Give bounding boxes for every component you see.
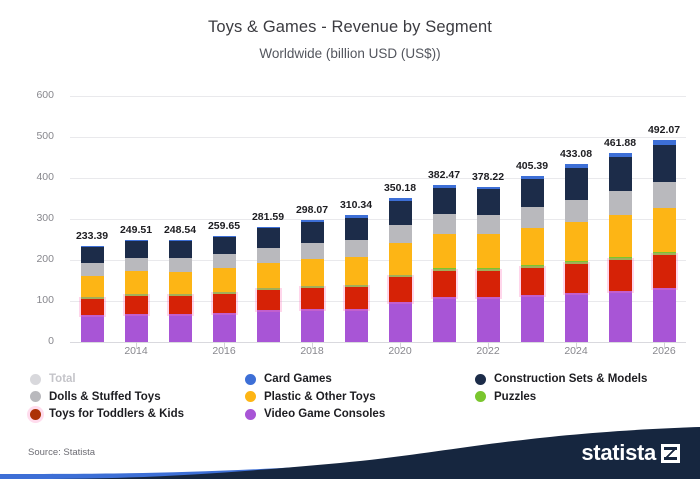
statista-wordmark: statista — [581, 442, 656, 464]
bar-segment[interactable] — [565, 293, 588, 342]
bar-segment[interactable] — [521, 179, 544, 207]
bar-segment[interactable] — [257, 310, 280, 342]
legend-color-swatch-icon — [245, 391, 256, 402]
bar-segment[interactable] — [521, 268, 544, 295]
bar-segment[interactable] — [169, 272, 192, 295]
bar-segment[interactable] — [125, 271, 148, 294]
bar-stack[interactable] — [433, 185, 456, 342]
chart-title: Toys & Games - Revenue by Segment — [0, 18, 700, 37]
bar-segment[interactable] — [301, 243, 324, 259]
bar-segment[interactable] — [653, 182, 676, 208]
chart-subtitle: Worldwide (billion USD (US$)) — [0, 46, 700, 61]
bar-segment[interactable] — [565, 168, 588, 199]
bar-segment[interactable] — [213, 294, 236, 313]
chart-legend[interactable]: TotalDolls & Stuffed ToysToys for Toddle… — [30, 372, 680, 424]
bar-value-label: 382.47 — [428, 169, 460, 181]
plot-area: 233.39249.51248.54259.65281.59298.07310.… — [70, 96, 686, 342]
bar-segment[interactable] — [477, 234, 500, 268]
legend-item[interactable]: Plastic & Other Toys — [245, 390, 475, 404]
bar-segment[interactable] — [169, 241, 192, 258]
bar-segment[interactable] — [389, 225, 412, 243]
bar-segment[interactable] — [125, 241, 148, 258]
bar-segment[interactable] — [213, 237, 236, 255]
bar-segment[interactable] — [257, 263, 280, 289]
x-tick-mark — [488, 342, 489, 349]
bar-segment[interactable] — [521, 228, 544, 264]
y-tick-600: 600 — [0, 89, 54, 101]
legend-color-swatch-icon — [245, 409, 256, 420]
bar-segment[interactable] — [125, 314, 148, 342]
bar-segment[interactable] — [433, 297, 456, 342]
bar-segment[interactable] — [433, 188, 456, 214]
bar-value-label: 281.59 — [252, 211, 284, 223]
bar-stack[interactable] — [565, 164, 588, 342]
bar-segment[interactable] — [433, 234, 456, 268]
bar-segment[interactable] — [81, 299, 104, 315]
bar-segment[interactable] — [345, 287, 368, 309]
bar-value-label: 405.39 — [516, 160, 548, 172]
legend-label: Puzzles — [494, 391, 536, 403]
legend-item[interactable]: Video Game Consoles — [245, 407, 475, 421]
bar-stack[interactable] — [213, 236, 236, 342]
legend-item[interactable]: Card Games — [245, 372, 475, 386]
bar-segment[interactable] — [477, 271, 500, 297]
bar-segment[interactable] — [653, 208, 676, 252]
x-tick-mark — [224, 342, 225, 349]
legend-label: Video Game Consoles — [264, 408, 385, 420]
legend-column: Construction Sets & ModelsPuzzles — [475, 372, 680, 424]
legend-item[interactable]: Dolls & Stuffed Toys — [30, 390, 245, 404]
source-label: Source: Statista — [28, 447, 95, 458]
bar-segment[interactable] — [609, 260, 632, 291]
legend-color-swatch-icon — [475, 374, 486, 385]
bar-value-label: 350.18 — [384, 182, 416, 194]
bar-segment[interactable] — [169, 258, 192, 271]
y-tick-200: 200 — [0, 253, 54, 265]
bar-stack[interactable] — [389, 198, 412, 342]
bar-value-label: 492.07 — [648, 124, 680, 136]
legend-color-swatch-icon — [30, 391, 41, 402]
bar-segment[interactable] — [609, 157, 632, 191]
y-axis-tick-labels: 0100200300400500600 — [0, 96, 60, 342]
legend-color-swatch-icon — [475, 391, 486, 402]
bar-segment[interactable] — [653, 288, 676, 342]
bar-segment[interactable] — [345, 218, 368, 241]
gridline-0 — [70, 342, 686, 343]
footer: Source: Statista statista — [0, 427, 700, 479]
bar-segment[interactable] — [521, 207, 544, 228]
bar-value-label: 310.34 — [340, 199, 372, 211]
bar-segment[interactable] — [345, 257, 368, 285]
bar-segment[interactable] — [81, 247, 104, 263]
bar-value-label: 259.65 — [208, 220, 240, 232]
bar-segment[interactable] — [169, 296, 192, 314]
bar-segment[interactable] — [301, 288, 324, 309]
legend-column: TotalDolls & Stuffed ToysToys for Toddle… — [30, 372, 245, 424]
chart-container: Toys & Games - Revenue by Segment Worldw… — [0, 0, 700, 479]
legend-item[interactable]: Total — [30, 372, 245, 386]
legend-label: Total — [49, 373, 76, 385]
x-tick-mark — [576, 342, 577, 349]
bar-stack[interactable] — [345, 215, 368, 342]
bar-segment[interactable] — [433, 271, 456, 297]
bar-segment[interactable] — [81, 263, 104, 276]
bar-stack[interactable] — [609, 153, 632, 342]
legend-label: Construction Sets & Models — [494, 373, 647, 385]
bar-segment[interactable] — [257, 248, 280, 263]
bar-segment[interactable] — [213, 254, 236, 268]
legend-item[interactable]: Toys for Toddlers & Kids — [30, 407, 245, 421]
y-tick-300: 300 — [0, 212, 54, 224]
statista-flag-icon — [661, 444, 680, 463]
bar-segment[interactable] — [345, 240, 368, 256]
x-tick-mark — [312, 342, 313, 349]
x-tick-mark — [136, 342, 137, 349]
bar-segment[interactable] — [213, 313, 236, 342]
x-tick-mark — [664, 342, 665, 349]
legend-label: Card Games — [264, 373, 332, 385]
bar-segment[interactable] — [565, 264, 588, 293]
bar-value-label: 248.54 — [164, 224, 196, 236]
bar-stack[interactable] — [257, 227, 280, 342]
bar-segment[interactable] — [257, 290, 280, 310]
bar-value-label: 298.07 — [296, 204, 328, 216]
bar-segment[interactable] — [213, 268, 236, 292]
bar-segment[interactable] — [609, 291, 632, 342]
bar-segment[interactable] — [81, 315, 104, 342]
bar-segment[interactable] — [389, 201, 412, 225]
legend-label: Dolls & Stuffed Toys — [49, 391, 161, 403]
bar-value-label: 249.51 — [120, 224, 152, 236]
bar-stack[interactable] — [169, 240, 192, 342]
legend-color-swatch-icon — [30, 374, 41, 385]
y-tick-0: 0 — [0, 335, 54, 347]
bar-value-label: 433.08 — [560, 148, 592, 160]
bar-series-group: 233.39249.51248.54259.65281.59298.07310.… — [70, 96, 686, 342]
bar-stack[interactable] — [477, 187, 500, 342]
legend-item[interactable]: Puzzles — [475, 390, 680, 404]
legend-column: Card GamesPlastic & Other ToysVideo Game… — [245, 372, 475, 424]
bar-segment[interactable] — [301, 309, 324, 342]
legend-color-swatch-icon — [30, 409, 41, 420]
bar-segment[interactable] — [565, 222, 588, 261]
bar-segment[interactable] — [301, 222, 324, 243]
bar-segment[interactable] — [257, 228, 280, 247]
bar-value-label: 378.22 — [472, 171, 504, 183]
bar-segment[interactable] — [389, 243, 412, 275]
bar-value-label: 461.88 — [604, 137, 636, 149]
bar-stack[interactable] — [653, 140, 676, 342]
legend-label: Toys for Toddlers & Kids — [49, 408, 184, 420]
bar-value-label: 233.39 — [76, 230, 108, 242]
bar-segment[interactable] — [125, 296, 148, 314]
bar-segment[interactable] — [81, 276, 104, 297]
bar-segment[interactable] — [301, 259, 324, 286]
x-tick-mark — [400, 342, 401, 349]
bar-segment[interactable] — [433, 214, 456, 234]
bar-segment[interactable] — [653, 145, 676, 182]
bar-segment[interactable] — [565, 200, 588, 223]
legend-item[interactable]: Construction Sets & Models — [475, 372, 680, 386]
bar-segment[interactable] — [653, 255, 676, 288]
bar-stack[interactable] — [81, 246, 104, 342]
bar-segment[interactable] — [389, 302, 412, 342]
bar-stack[interactable] — [301, 220, 324, 342]
bar-segment[interactable] — [477, 297, 500, 342]
bar-stack[interactable] — [521, 176, 544, 342]
bar-segment[interactable] — [125, 258, 148, 271]
bar-segment[interactable] — [477, 215, 500, 235]
statista-logo: statista — [581, 442, 680, 464]
bar-stack[interactable] — [125, 240, 148, 342]
bar-segment[interactable] — [477, 189, 500, 215]
legend-label: Plastic & Other Toys — [264, 391, 376, 403]
legend-color-swatch-icon — [245, 374, 256, 385]
bar-segment[interactable] — [609, 191, 632, 215]
bar-segment[interactable] — [345, 309, 368, 342]
bar-segment[interactable] — [609, 215, 632, 256]
y-tick-400: 400 — [0, 171, 54, 183]
y-tick-100: 100 — [0, 294, 54, 306]
bar-segment[interactable] — [389, 277, 412, 301]
y-tick-500: 500 — [0, 130, 54, 142]
bar-segment[interactable] — [521, 295, 544, 342]
bar-segment[interactable] — [169, 314, 192, 342]
